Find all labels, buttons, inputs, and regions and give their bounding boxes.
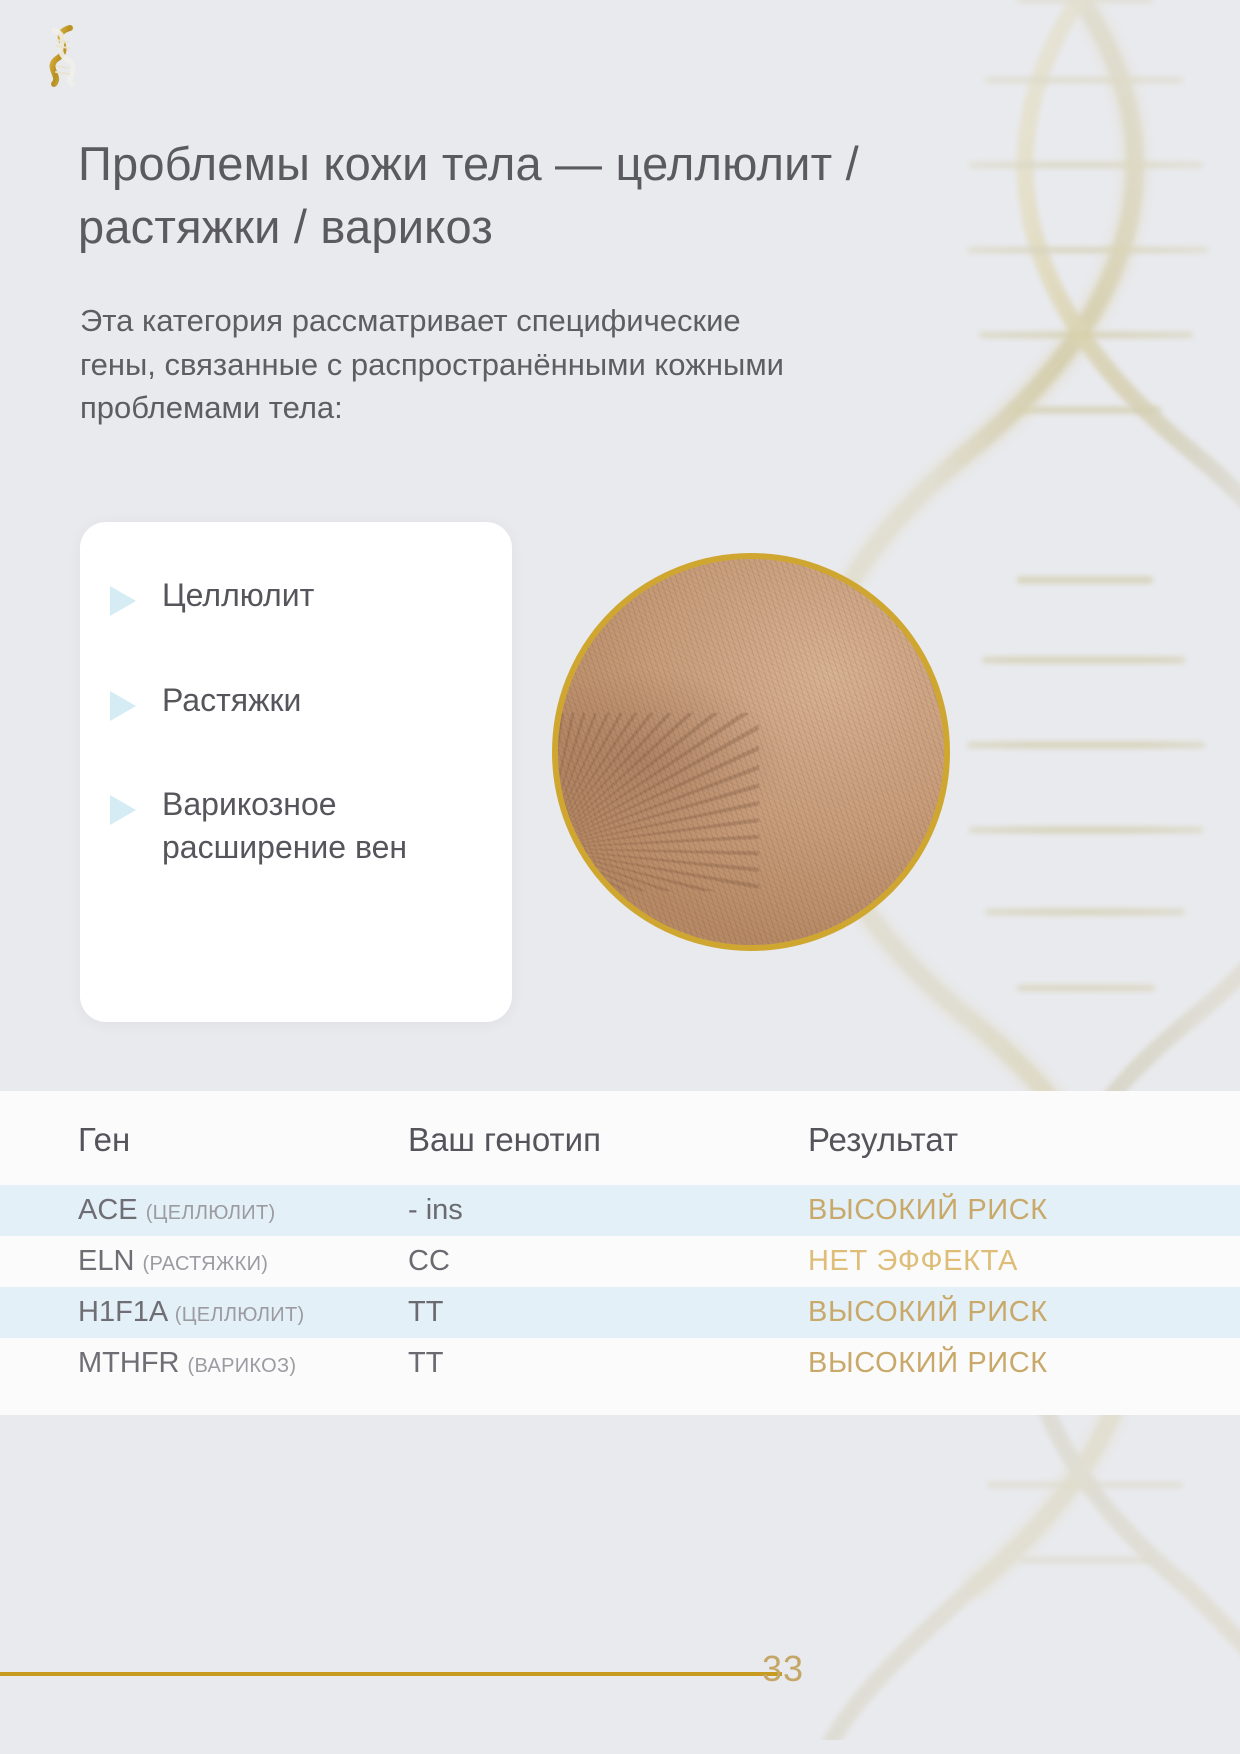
list-item-label: Растяжки [162, 679, 301, 722]
status-badge: НЕТ ЭФФЕКТА [808, 1245, 1018, 1277]
triangle-bullet-icon [110, 691, 136, 721]
gene-tag: (ВАРИКОЗ) [188, 1355, 297, 1377]
intro-paragraph: Эта категория рассматривает специфически… [80, 299, 800, 430]
table-header-row: Ген Ваш генотип Результат [0, 1091, 1240, 1185]
dna-helix-logo [34, 22, 94, 88]
skin-cellulite-photo [552, 553, 950, 951]
status-badge: ВЫСОКИЙ РИСК [808, 1296, 1048, 1328]
condition-list-card: Целлюлит Растяжки Варикозное расширение … [80, 522, 512, 1022]
gene-name: ELN [78, 1245, 134, 1277]
gene-tag: (РАСТЯЖКИ) [142, 1253, 268, 1275]
condition-list: Целлюлит Растяжки Варикозное расширение … [102, 574, 494, 868]
list-item: Варикозное расширение вен [102, 783, 494, 868]
table-row: MTHFR (ВАРИКОЗ) TT ВЫСОКИЙ РИСК [0, 1338, 1240, 1389]
triangle-bullet-icon [110, 795, 136, 825]
list-item: Растяжки [102, 679, 494, 722]
status-badge: ВЫСОКИЙ РИСК [808, 1347, 1048, 1379]
table-row: H1F1A (ЦЕЛЛЮЛИТ) TT ВЫСОКИЙ РИСК [0, 1287, 1240, 1338]
genotype-value: TT [408, 1338, 808, 1389]
gene-results-table: Ген Ваш генотип Результат ACE (ЦЕЛЛЮЛИТ)… [0, 1091, 1240, 1415]
genotype-value: - ins [408, 1185, 808, 1236]
genotype-value: CC [408, 1236, 808, 1287]
skin-texture [558, 559, 944, 945]
table-row: ACE (ЦЕЛЛЮЛИТ) - ins ВЫСОКИЙ РИСК [0, 1185, 1240, 1236]
genotype-value: TT [408, 1287, 808, 1338]
skin-crease [552, 713, 759, 891]
list-item-label: Варикозное расширение вен [162, 783, 494, 868]
footer-rule [0, 1672, 782, 1676]
gene-name: H1F1A [78, 1296, 167, 1328]
page-number: 33 [728, 1648, 838, 1690]
table-row: ELN (РАСТЯЖКИ) CC НЕТ ЭФФЕКТА [0, 1236, 1240, 1287]
column-header-result: Результат [808, 1091, 1240, 1185]
gene-name: ACE [78, 1194, 138, 1226]
status-badge: ВЫСОКИЙ РИСК [808, 1194, 1048, 1226]
page-title: Проблемы кожи тела — целлюлит / растяжки… [78, 133, 958, 258]
gene-tag: (ЦЕЛЛЮЛИТ) [175, 1304, 305, 1326]
gene-name: MTHFR [78, 1347, 179, 1379]
triangle-bullet-icon [110, 586, 136, 616]
column-header-gene: Ген [0, 1091, 408, 1185]
slide-page: Проблемы кожи тела — целлюлит / растяжки… [0, 0, 1240, 1754]
table-bottom-spacer [0, 1389, 1240, 1415]
list-item-label: Целлюлит [162, 574, 314, 617]
gene-tag: (ЦЕЛЛЮЛИТ) [146, 1202, 276, 1224]
list-item: Целлюлит [102, 574, 494, 617]
column-header-genotype: Ваш генотип [408, 1091, 808, 1185]
